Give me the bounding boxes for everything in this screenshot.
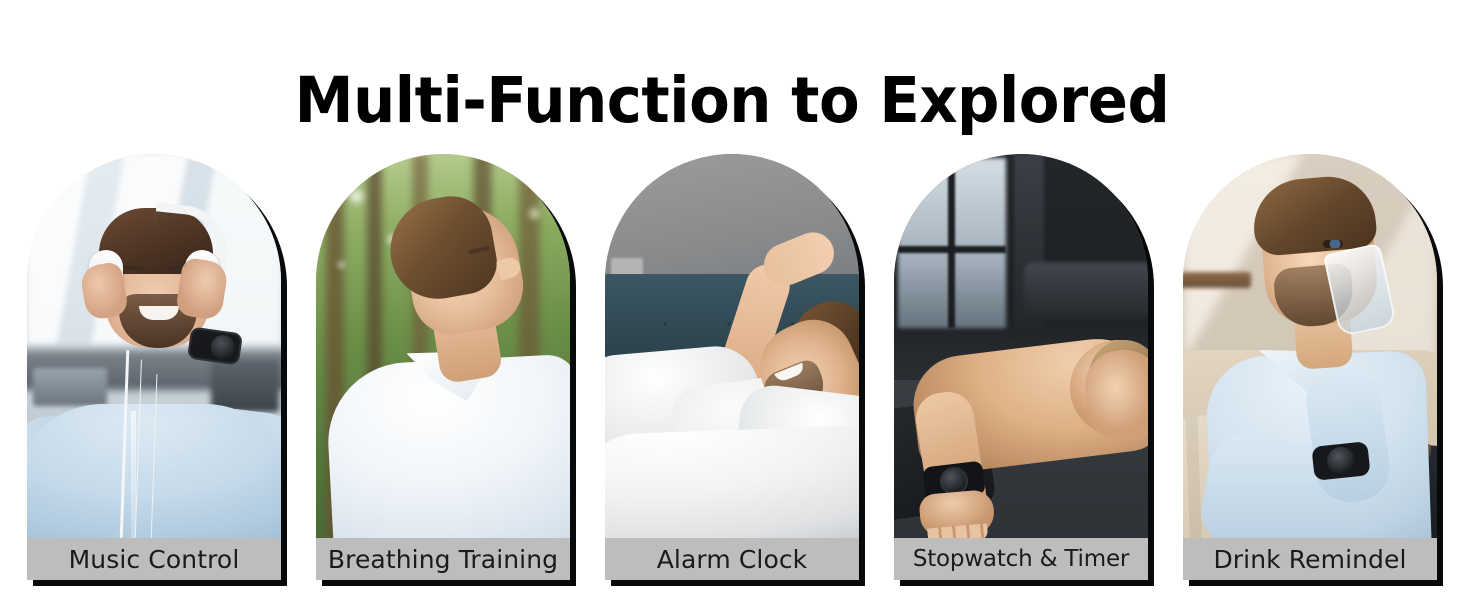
office-monitor-right bbox=[211, 360, 279, 412]
card-body: Alarm Clock bbox=[605, 154, 859, 580]
smartwatch-icon bbox=[1311, 441, 1370, 481]
side-table bbox=[1183, 272, 1251, 288]
feature-card-breathing-training[interactable]: Breathing Training bbox=[316, 154, 570, 580]
feature-card-drink-remindel[interactable]: Drink Remindel bbox=[1183, 154, 1437, 580]
hand-on-floor bbox=[918, 489, 996, 539]
caption-label: Music Control bbox=[69, 545, 240, 574]
feature-photo-drink-remindel bbox=[1183, 154, 1437, 580]
caption-bar-stopwatch-timer: Stopwatch & Timer bbox=[894, 538, 1148, 580]
promo-banner: Multi-Function to Explored bbox=[0, 0, 1464, 600]
feature-photo-breathing-training bbox=[316, 154, 570, 580]
feature-photo-music-control bbox=[27, 154, 281, 580]
feature-card-music-control[interactable]: Music Control bbox=[27, 154, 281, 580]
card-body: Stopwatch & Timer bbox=[894, 154, 1148, 580]
card-body: Breathing Training bbox=[316, 154, 570, 580]
feature-card-stopwatch-timer[interactable]: Stopwatch & Timer bbox=[894, 154, 1148, 580]
feature-photo-alarm-clock bbox=[605, 154, 859, 580]
caption-label: Stopwatch & Timer bbox=[913, 546, 1129, 572]
window-mullion-horizontal bbox=[898, 246, 1006, 253]
office-monitor-left bbox=[33, 368, 107, 406]
feature-photo-stopwatch-timer bbox=[894, 154, 1148, 580]
card-body: Drink Remindel bbox=[1183, 154, 1437, 580]
eye bbox=[1323, 240, 1343, 248]
caption-label: Alarm Clock bbox=[657, 545, 808, 574]
caption-label: Breathing Training bbox=[328, 545, 558, 574]
caption-bar-breathing-training: Breathing Training bbox=[316, 538, 570, 580]
caption-label: Drink Remindel bbox=[1213, 545, 1406, 574]
window-mullion-vertical bbox=[948, 158, 955, 328]
page-title: Multi-Function to Explored bbox=[44, 68, 1420, 134]
caption-bar-drink-remindel: Drink Remindel bbox=[1183, 538, 1437, 580]
gym-bench bbox=[1024, 262, 1148, 320]
feature-card-row: Music Control Brea bbox=[27, 154, 1437, 586]
caption-bar-alarm-clock: Alarm Clock bbox=[605, 538, 859, 580]
feature-card-alarm-clock[interactable]: Alarm Clock bbox=[605, 154, 859, 580]
card-body: Music Control bbox=[27, 154, 281, 580]
caption-bar-music-control: Music Control bbox=[27, 538, 281, 580]
